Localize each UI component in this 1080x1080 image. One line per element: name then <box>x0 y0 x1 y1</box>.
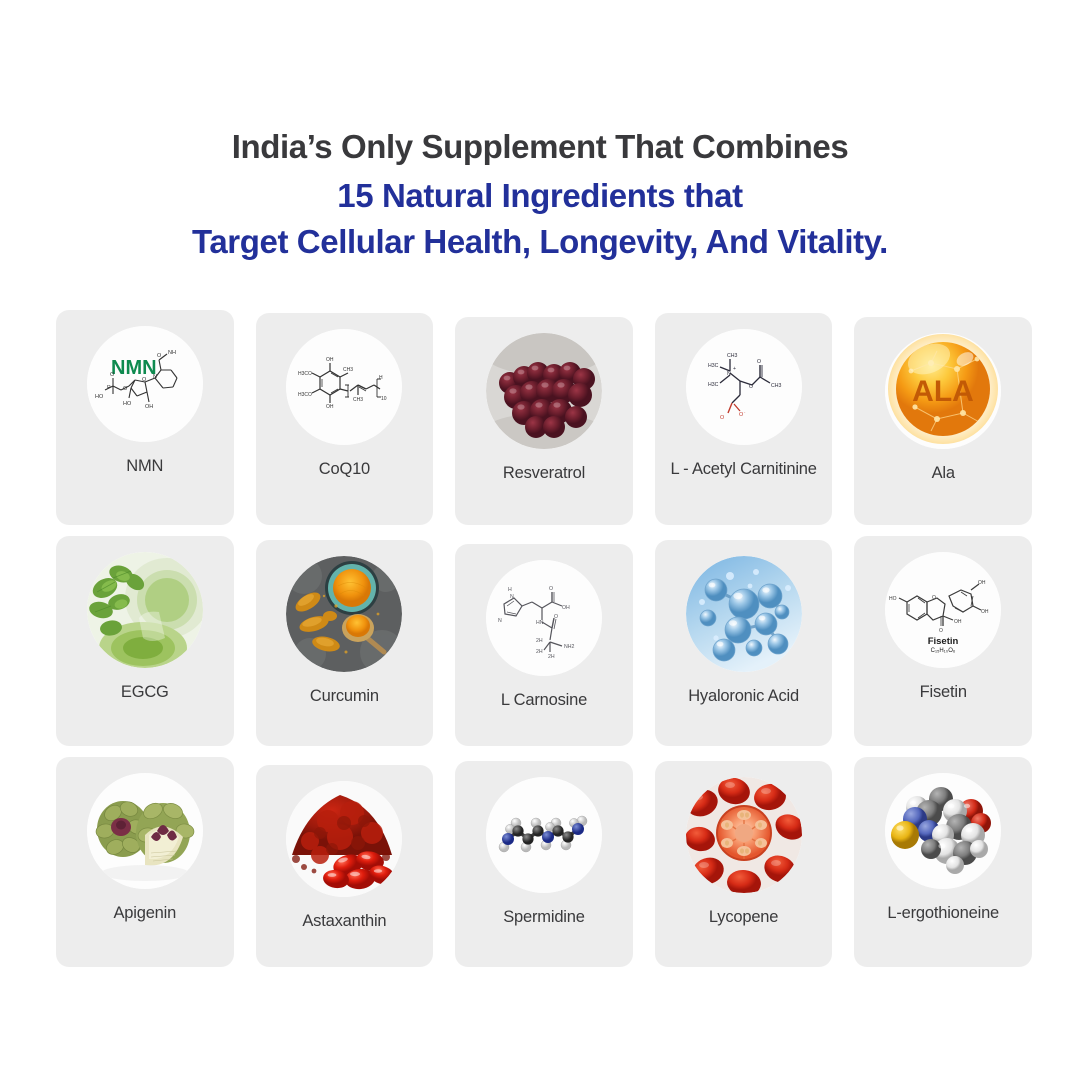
svg-text:O: O <box>110 372 115 378</box>
svg-text:H3C: H3C <box>708 382 719 388</box>
coq10-structure-icon: OH OH H3CO H3CO CH3 CH3 H 10 <box>286 329 402 445</box>
svg-text:O: O <box>157 353 162 359</box>
ingredient-card-ergothioneine[interactable]: L-ergothioneine <box>854 757 1032 967</box>
svg-text:OH: OH <box>145 404 153 410</box>
ergothioneine-spacefill-icon <box>885 773 1001 889</box>
water-molecules-icon <box>686 556 802 672</box>
svg-text:N: N <box>727 371 731 377</box>
ingredient-label: Curcumin <box>310 686 379 707</box>
ingredient-label: Astaxanthin <box>302 911 386 932</box>
svg-text:O: O <box>142 377 147 383</box>
svg-text:2H: 2H <box>536 638 543 644</box>
svg-text:OH: OH <box>954 619 962 625</box>
svg-text:O: O <box>939 628 943 634</box>
ingredient-card-resveratrol[interactable]: Resveratrol <box>455 317 633 525</box>
svg-text:NMN: NMN <box>111 357 157 379</box>
ala-sphere-icon: ALA <box>885 333 1001 449</box>
svg-text:HO: HO <box>95 394 104 400</box>
svg-text:OH: OH <box>981 609 989 615</box>
svg-text:H3CO: H3CO <box>298 392 312 398</box>
svg-text:O: O <box>749 384 753 390</box>
nmn-structure-icon: NMN HO O <box>87 326 203 442</box>
ingredient-label: Spermidine <box>503 907 584 928</box>
svg-text:HO: HO <box>889 596 897 602</box>
svg-text:OH: OH <box>978 580 986 586</box>
svg-text:10: 10 <box>381 396 387 402</box>
svg-text:O: O <box>549 586 553 592</box>
carnosine-structure-icon: H N N O OH HN O NH2 2H 2H 2H <box>486 560 602 676</box>
svg-text:O: O <box>123 386 128 392</box>
ingredient-card-spermidine[interactable]: Spermidine <box>455 761 633 967</box>
ingredient-label: NMN <box>126 456 163 477</box>
ingredient-card-egcg[interactable]: EGCG <box>56 536 234 746</box>
ingredient-label: Resveratrol <box>503 463 585 484</box>
svg-text:NH2: NH2 <box>564 644 574 650</box>
svg-text:N: N <box>498 618 502 624</box>
ingredient-card-astaxanthin[interactable]: Astaxanthin <box>256 765 434 967</box>
tomato-photo-icon <box>686 777 802 893</box>
ingredient-label: L-ergothioneine <box>887 903 999 924</box>
headline-line-2: 15 Natural Ingredients that <box>0 177 1080 216</box>
svg-text:ALA: ALA <box>912 375 974 408</box>
svg-text:N: N <box>153 374 157 380</box>
svg-text:O: O <box>932 595 936 601</box>
svg-text:O: O <box>757 359 761 365</box>
svg-text:CH3: CH3 <box>353 397 363 403</box>
red-powder-softgel-photo-icon <box>286 781 402 897</box>
ingredient-card-carnosine[interactable]: H N N O OH HN O NH2 2H 2H 2H L Carnosine <box>455 544 633 746</box>
spermidine-ballstick-icon <box>486 777 602 893</box>
ingredient-label: Apigenin <box>113 903 176 924</box>
ingredient-card-lycopene[interactable]: Lycopene <box>655 761 833 967</box>
ingredient-label: Fisetin <box>920 682 967 703</box>
ingredient-card-acetyl-carnitine[interactable]: H3C H3C CH3 N + O O CH3 O O - <box>655 313 833 525</box>
page-headline: India’s Only Supplement That Combines 15… <box>0 128 1080 262</box>
svg-text:OH: OH <box>326 357 334 363</box>
svg-text:O: O <box>720 415 724 421</box>
svg-text:P: P <box>107 385 111 391</box>
svg-text:O: O <box>554 614 558 620</box>
svg-text:OH: OH <box>562 605 570 611</box>
ingredient-label: L - Acetyl Carnitinine <box>670 459 816 480</box>
green-tea-photo-icon <box>87 552 203 668</box>
svg-text:H3CO: H3CO <box>298 371 312 377</box>
svg-text:O: O <box>739 412 743 418</box>
ingredient-card-curcumin[interactable]: Curcumin <box>256 540 434 746</box>
artichoke-photo-icon <box>87 773 203 889</box>
ingredient-label: CoQ10 <box>319 459 370 480</box>
svg-text:H3C: H3C <box>708 363 719 369</box>
ingredient-label: EGCG <box>121 682 169 703</box>
svg-text:OH: OH <box>326 404 334 410</box>
headline-line-3: Target Cellular Health, Longevity, And V… <box>0 223 1080 262</box>
grapes-photo-icon <box>486 333 602 449</box>
acetyl-carnitine-structure-icon: H3C H3C CH3 N + O O CH3 O O - <box>686 329 802 445</box>
svg-text:N: N <box>510 594 514 600</box>
svg-text:NH: NH <box>168 350 176 356</box>
svg-text:CH3: CH3 <box>771 383 781 389</box>
svg-text:2H: 2H <box>548 654 555 660</box>
ingredient-card-nmn[interactable]: NMN HO O <box>56 310 234 525</box>
ingredient-card-hyaluronic-acid[interactable]: Hyaloronic Acid <box>655 540 833 746</box>
ingredient-card-ala[interactable]: ALA Ala <box>854 317 1032 525</box>
svg-text:CH3: CH3 <box>727 353 737 359</box>
svg-text:2H: 2H <box>536 649 543 655</box>
svg-text:CH3: CH3 <box>343 367 353 373</box>
ingredient-showcase-page: India’s Only Supplement That Combines 15… <box>0 0 1080 1080</box>
svg-text:H: H <box>508 587 512 593</box>
headline-line-1: India’s Only Supplement That Combines <box>0 128 1080 167</box>
ingredient-label: Lycopene <box>709 907 778 928</box>
svg-text:Fisetin: Fisetin <box>928 636 959 647</box>
ingredient-label: Hyaloronic Acid <box>688 686 799 707</box>
svg-text:HO: HO <box>123 401 132 407</box>
svg-text:H: H <box>379 375 383 381</box>
svg-text:C₁₅H₁₀O₆: C₁₅H₁₀O₆ <box>931 648 956 654</box>
turmeric-photo-icon <box>286 556 402 672</box>
svg-text:HN: HN <box>536 620 544 626</box>
svg-text:+: + <box>733 366 736 372</box>
ingredient-grid: NMN HO O <box>56 310 1032 967</box>
ingredient-label: Ala <box>932 463 955 484</box>
ingredient-card-fisetin[interactable]: HO O O OH OH OH Fisetin C₁₅H₁₀O₆ Fisetin <box>854 536 1032 746</box>
ingredient-label: L Carnosine <box>501 690 587 711</box>
ingredient-card-apigenin[interactable]: Apigenin <box>56 757 234 967</box>
fisetin-structure-icon: HO O O OH OH OH Fisetin C₁₅H₁₀O₆ <box>885 552 1001 668</box>
ingredient-card-coq10[interactable]: OH OH H3CO H3CO CH3 CH3 H 10 CoQ10 <box>256 313 434 525</box>
